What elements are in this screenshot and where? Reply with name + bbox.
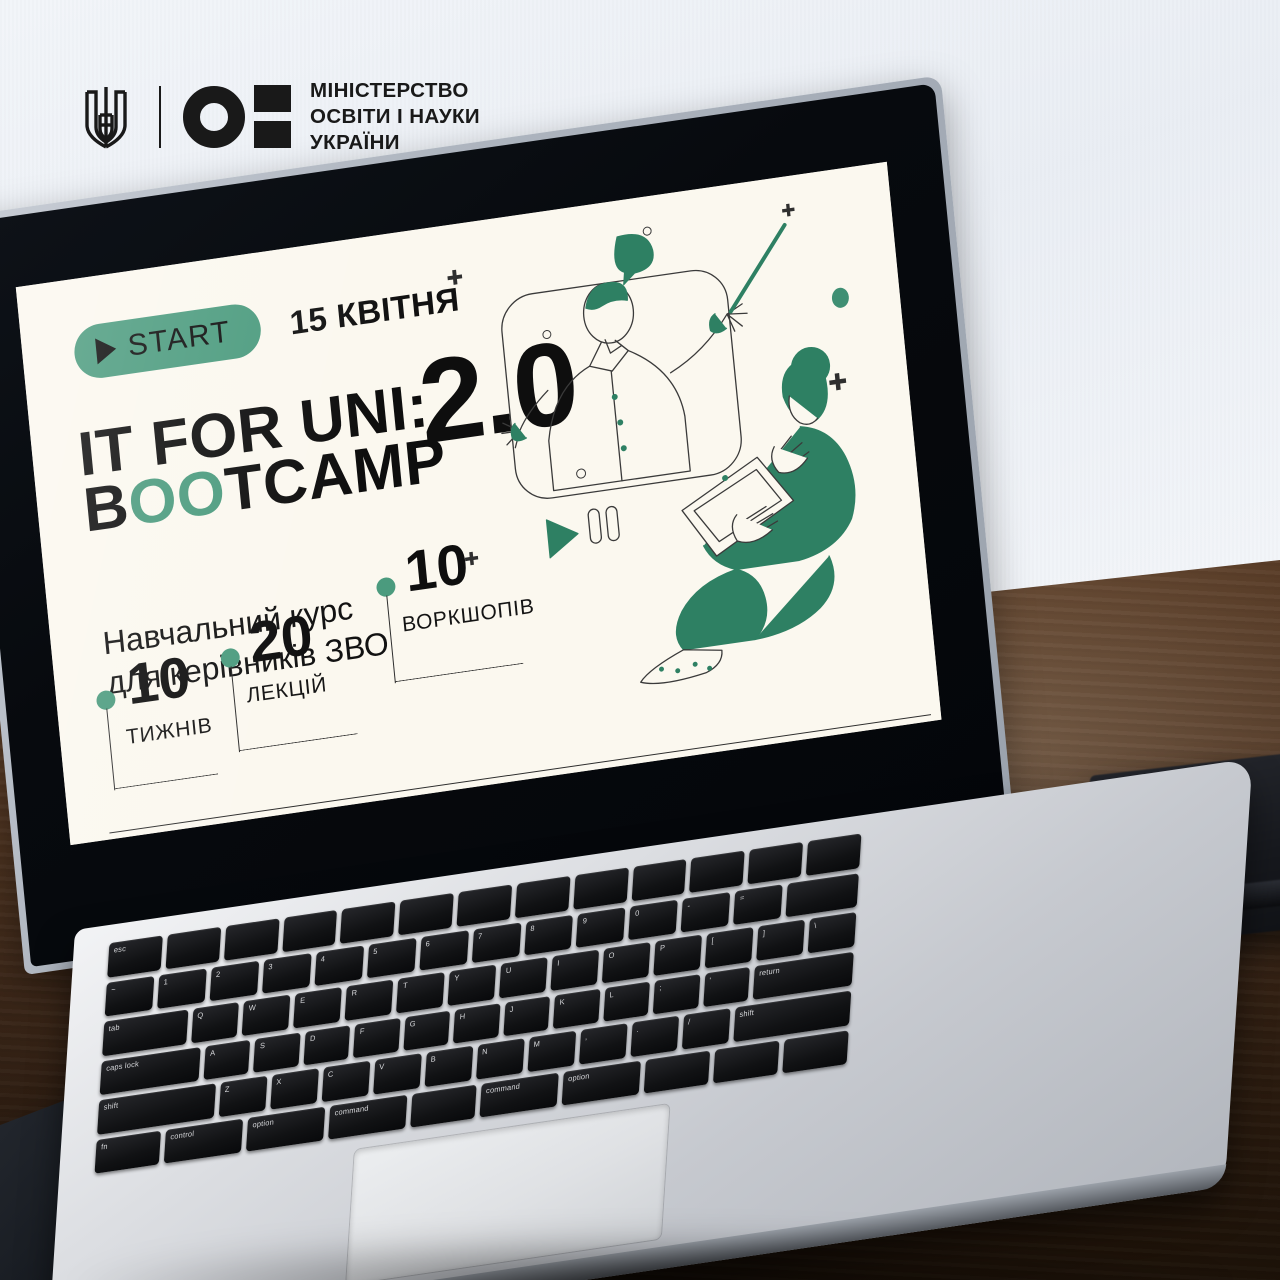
key-r[interactable]: R — [345, 980, 394, 1021]
key-label: B — [430, 1054, 436, 1064]
key-blank[interactable] — [748, 842, 803, 884]
key-label: E — [300, 995, 306, 1005]
key-blank[interactable] — [806, 833, 861, 875]
key-label: esc — [114, 944, 127, 955]
key-label: 1 — [163, 977, 168, 987]
stat-value: 10 — [402, 536, 470, 602]
key-c[interactable]: C — [321, 1061, 370, 1102]
stat-connector-vertical — [386, 595, 396, 683]
ministry-name: Міністерство освіти і науки України — [310, 78, 480, 155]
key-'[interactable]: ' — [703, 966, 750, 1007]
key-f[interactable]: F — [353, 1017, 400, 1058]
stat-value: 10 — [124, 649, 192, 715]
laptop-shadow — [60, 1230, 1240, 1280]
key-label: H — [459, 1011, 465, 1021]
key-p[interactable]: P — [653, 935, 702, 976]
key-label: 4 — [321, 954, 326, 964]
key-label: 5 — [373, 946, 378, 956]
key-b[interactable]: B — [424, 1046, 473, 1087]
key-blank[interactable] — [224, 918, 279, 960]
key-e[interactable]: E — [294, 987, 343, 1028]
key-label: shift — [739, 1008, 754, 1019]
ministry-line-1: Міністерство — [310, 78, 480, 104]
key-t[interactable]: T — [396, 972, 445, 1013]
slide-header: START 15 КВІТНЯ — [72, 272, 462, 381]
key-[[interactable]: [ — [705, 927, 754, 968]
logo-bar-bottom — [254, 121, 291, 148]
key-label: N — [482, 1047, 488, 1057]
key-label: M — [533, 1039, 540, 1049]
logo-bars — [254, 85, 291, 148]
key-esc[interactable]: esc — [107, 935, 162, 977]
key-][interactable]: ] — [756, 920, 805, 961]
key-label: ~ — [111, 984, 116, 994]
key-u[interactable]: U — [499, 957, 548, 998]
key-9[interactable]: 9 — [576, 907, 626, 948]
key-label: fn — [101, 1141, 108, 1151]
key-label: I — [557, 958, 560, 968]
key-label: 9 — [582, 915, 587, 925]
key-label: tab — [109, 1022, 121, 1033]
key-.[interactable]: . — [630, 1016, 679, 1057]
logo-divider — [159, 86, 161, 148]
key-a[interactable]: A — [204, 1039, 251, 1080]
key-label: R — [351, 988, 357, 998]
key-label: S — [260, 1040, 266, 1050]
key-w[interactable]: W — [242, 995, 291, 1036]
key-5[interactable]: 5 — [367, 937, 417, 978]
key-,[interactable]: , — [578, 1023, 627, 1064]
logo-bar-top — [254, 85, 291, 112]
key-label: D — [310, 1033, 316, 1043]
key-label: 7 — [478, 931, 483, 941]
key-s[interactable]: S — [253, 1032, 300, 1073]
key-label: C — [328, 1069, 334, 1079]
ministry-logo: Міністерство освіти і науки України — [75, 78, 480, 155]
key-label: O — [608, 950, 615, 960]
key-label: T — [403, 980, 408, 990]
key-label: option — [568, 1071, 590, 1083]
key-label: - — [687, 900, 690, 910]
key-;[interactable]: ; — [653, 974, 700, 1015]
key-blank[interactable] — [457, 884, 512, 926]
start-button-label: START — [126, 315, 232, 364]
key-\[interactable]: \ — [808, 912, 857, 953]
key-label: command — [334, 1103, 369, 1117]
headline-b: B — [81, 470, 133, 545]
key-q[interactable]: Q — [191, 1002, 240, 1043]
stat-connector-horizontal — [239, 733, 358, 751]
key-l[interactable]: L — [603, 981, 650, 1022]
key-blank[interactable] — [573, 867, 628, 909]
stat-connector-vertical — [106, 709, 115, 791]
key-blank[interactable] — [515, 876, 570, 918]
key-=[interactable]: = — [733, 884, 783, 925]
key-label: , — [585, 1032, 588, 1042]
key-y[interactable]: Y — [448, 965, 497, 1006]
scene: Міністерство освіти і науки України ✚ ✚ … — [0, 0, 1280, 1280]
ministry-line-2: освіти і науки — [310, 104, 480, 130]
key-x[interactable]: X — [270, 1068, 319, 1109]
key-label: 6 — [425, 938, 430, 948]
key-o[interactable]: O — [602, 942, 651, 983]
key-label: Z — [225, 1084, 230, 1094]
key-4[interactable]: 4 — [314, 945, 364, 986]
key-label: W — [249, 1003, 257, 1013]
key-j[interactable]: J — [503, 996, 550, 1037]
key-~[interactable]: ~ — [105, 976, 155, 1017]
headline-o-1: O — [125, 463, 180, 539]
key-blank[interactable] — [398, 893, 453, 935]
key-0[interactable]: 0 — [629, 899, 679, 940]
key-blank[interactable] — [340, 901, 395, 943]
key-label: P — [660, 943, 666, 953]
key-k[interactable]: K — [553, 988, 600, 1029]
stat-connector-horizontal — [114, 773, 218, 789]
ministry-line-3: України — [310, 130, 480, 156]
key-label: K — [559, 996, 565, 1006]
key-7[interactable]: 7 — [471, 922, 521, 963]
key-blank[interactable] — [165, 927, 220, 969]
laptop: ✚ ✚ ✚ ✚ START 15 КВІТНЯ — [0, 0, 1280, 1280]
stat-connector-horizontal — [395, 663, 524, 683]
start-button[interactable]: START — [72, 301, 263, 382]
key-1[interactable]: 1 — [157, 968, 207, 1009]
stat-label: ТИЖНІВ — [125, 714, 214, 750]
key-blank[interactable] — [631, 859, 686, 901]
key-label: [ — [711, 936, 714, 946]
key-label: A — [210, 1047, 216, 1057]
key-label: U — [506, 965, 512, 975]
key-3[interactable]: 3 — [262, 953, 312, 994]
key-h[interactable]: H — [453, 1003, 500, 1044]
key-label: \ — [814, 921, 817, 931]
key-label: J — [509, 1004, 514, 1014]
key-blank[interactable] — [786, 873, 859, 918]
key-label: option — [252, 1117, 274, 1129]
key-blank[interactable] — [282, 910, 337, 952]
key-2[interactable]: 2 — [209, 960, 259, 1001]
key-8[interactable]: 8 — [524, 914, 574, 955]
key-label: return — [759, 965, 780, 977]
key-label: ' — [709, 975, 711, 984]
key-label: L — [609, 989, 614, 999]
key-6[interactable]: 6 — [419, 930, 469, 971]
key-z[interactable]: Z — [218, 1076, 267, 1117]
key-label: Q — [197, 1010, 204, 1020]
play-icon — [95, 336, 117, 365]
key-label: shift — [103, 1100, 118, 1111]
key-label: control — [170, 1128, 194, 1141]
key-label: ; — [659, 982, 662, 992]
stat-connector-vertical — [231, 666, 240, 752]
key-tab[interactable]: tab — [102, 1010, 188, 1056]
key-blank[interactable] — [689, 850, 744, 892]
event-date: 15 КВІТНЯ — [288, 280, 461, 342]
key-label: 0 — [635, 908, 640, 918]
headline-o-2: O — [174, 456, 229, 532]
key-n[interactable]: N — [476, 1038, 525, 1079]
key-label: 2 — [216, 969, 221, 979]
key-d[interactable]: D — [303, 1025, 350, 1066]
key-label: V — [379, 1062, 385, 1072]
key-label: 3 — [268, 961, 273, 971]
key-label: 8 — [530, 923, 535, 933]
key-label: = — [740, 892, 745, 902]
key-/[interactable]: / — [681, 1008, 730, 1049]
key-g[interactable]: G — [403, 1010, 450, 1051]
key-m[interactable]: M — [527, 1031, 576, 1072]
mon-o-bars-logo — [183, 85, 291, 148]
key-label: command — [486, 1081, 521, 1095]
key-label: F — [360, 1026, 365, 1036]
key-v[interactable]: V — [373, 1053, 422, 1094]
ukraine-trident-emblem — [75, 79, 137, 155]
key-i[interactable]: I — [551, 950, 600, 991]
key-label: X — [276, 1077, 282, 1087]
key--[interactable]: - — [681, 891, 731, 932]
logo-o-ring — [183, 86, 245, 148]
key-label: / — [688, 1017, 691, 1027]
key-label: G — [410, 1018, 417, 1028]
key-label: Y — [454, 973, 460, 983]
stat-value: 20 — [247, 607, 315, 673]
stat-label: ЛЕКЦІЙ — [245, 673, 328, 709]
key-label: ] — [763, 928, 766, 938]
key-label: . — [636, 1025, 639, 1035]
key-label: caps lock — [106, 1059, 139, 1073]
